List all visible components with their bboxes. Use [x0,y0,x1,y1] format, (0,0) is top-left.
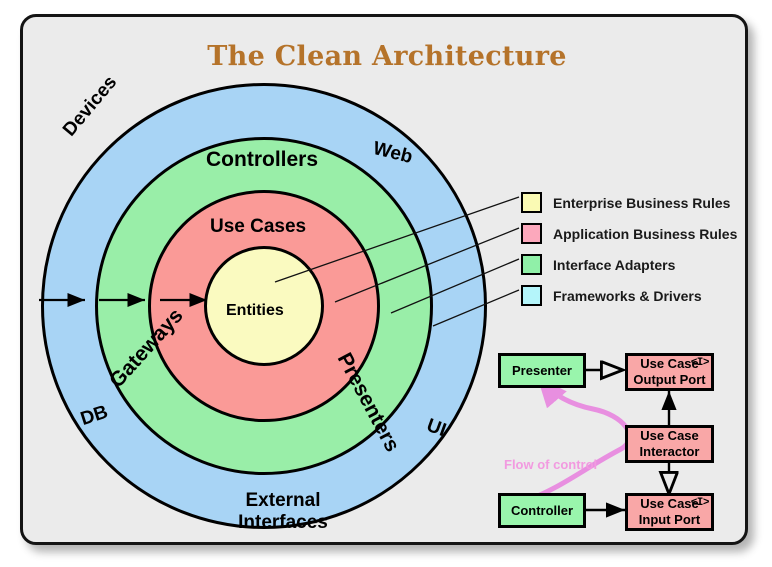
legend-swatch-adapters [521,254,542,275]
output-port-line2: Output Port [633,372,705,388]
ring-label-entities: Entities [226,302,284,320]
ring-label-use-cases: Use Cases [210,216,306,238]
flow-box-controller: Controller [498,493,586,528]
screenshot-root: The Clean Architecture Devices Web DB UI… [0,0,772,567]
legend-item-application-business-rules: Application Business Rules [521,218,737,249]
legend-label-frameworks: Frameworks & Drivers [553,288,702,304]
external-interfaces-line1: External [213,490,353,512]
flow-box-presenter-label: Presenter [512,363,572,379]
flow-of-control-curve [523,379,629,502]
legend-item-frameworks-drivers: Frameworks & Drivers [521,280,737,311]
ring-label-external-interfaces: External Interfaces [213,490,353,534]
legend-label-application: Application Business Rules [553,226,737,242]
ring-label-devices: Devices [59,72,122,141]
legend: Enterprise Business Rules Application Bu… [521,187,737,311]
legend-swatch-application [521,223,542,244]
diagram-card: The Clean Architecture Devices Web DB UI… [20,14,748,545]
legend-item-interface-adapters: Interface Adapters [521,249,737,280]
interactor-line2: Interactor [640,444,700,460]
interactor-line1: Use Case [640,428,699,444]
legend-label-adapters: Interface Adapters [553,257,675,273]
ring-label-controllers: Controllers [206,148,318,172]
external-interfaces-line2: Interfaces [213,512,353,534]
flow-box-presenter: Presenter [498,353,586,388]
legend-swatch-enterprise [521,192,542,213]
flow-box-use-case-input-port: <I> Use Case Input Port [625,493,714,531]
flow-of-control-label: Flow of control [504,457,597,472]
flow-box-controller-label: Controller [511,503,573,519]
interface-marker-input-port: <I> [691,495,709,511]
interface-marker-output-port: <I> [691,355,709,371]
legend-label-enterprise: Enterprise Business Rules [553,195,730,211]
flow-box-use-case-interactor: Use Case Interactor [625,425,714,463]
input-port-line2: Input Port [639,512,700,528]
legend-item-enterprise-business-rules: Enterprise Business Rules [521,187,737,218]
flow-box-use-case-output-port: <I> Use Case Output Port [625,353,714,391]
legend-swatch-frameworks [521,285,542,306]
page-title: The Clean Architecture [23,41,748,72]
